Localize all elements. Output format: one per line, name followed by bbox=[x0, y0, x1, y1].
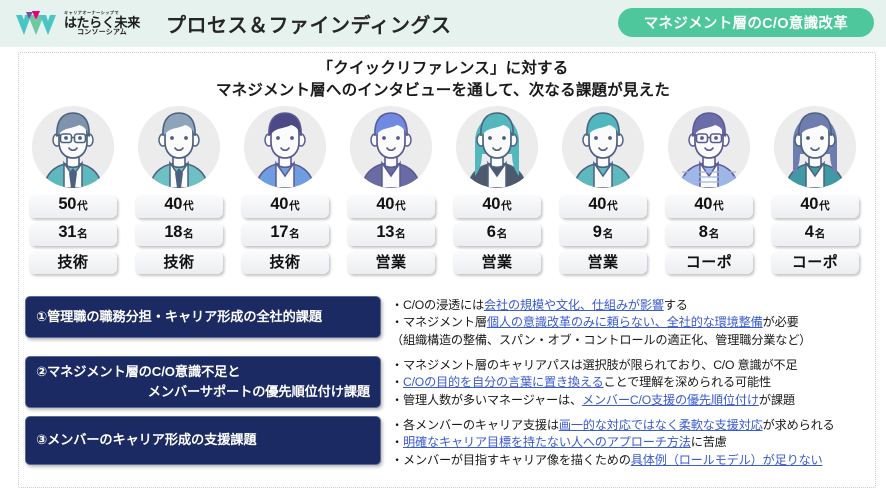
finding-title-box[interactable]: ③メンバーのキャリア形成の支援課題 bbox=[25, 416, 381, 465]
finding-body: ・C/Oの浸透には会社の規模や文化、仕組みが影響する・マネジメント層個人の意識改… bbox=[391, 296, 811, 349]
persona-dept-value: 技術 bbox=[163, 251, 194, 272]
persona-count-pill: 6名 bbox=[453, 223, 541, 246]
plain-text: ・マネジメント層のキャリアパスは選択肢が限られており、C/O 意識が不足 bbox=[391, 358, 797, 372]
plain-text: が求められる bbox=[763, 418, 835, 432]
consortium-logo: キャリアオーナーシップで はたらく未来 コンソーシアム bbox=[14, 9, 140, 39]
finding-row: ①管理職の職務分担・キャリア形成の全社的課題・C/Oの浸透には会社の規模や文化、… bbox=[25, 296, 873, 349]
persona-dept-pill: 営業 bbox=[347, 251, 435, 274]
persona-count-unit: 名 bbox=[183, 226, 194, 241]
plain-text: ・ bbox=[391, 435, 403, 449]
avatar-woman-short-hair bbox=[562, 106, 644, 188]
findings-list: ①管理職の職務分担・キャリア形成の全社的課題・C/Oの浸透には会社の規模や文化、… bbox=[25, 296, 873, 476]
plain-text: ・各メンバーのキャリア支援は bbox=[391, 418, 559, 432]
finding-body: ・各メンバーのキャリア支援は画一的な対応ではなく柔軟な支援対応が求められる・明確… bbox=[391, 416, 835, 469]
persona-age-value: 40 bbox=[694, 195, 712, 214]
plain-text: ・マネジメント層 bbox=[391, 315, 487, 329]
persona-card: 40代 17名 技術 bbox=[236, 106, 334, 288]
plain-text: （組織構造の整備、スパン・オブ・コントロールの適正化、管理職分業など） bbox=[391, 333, 811, 347]
persona-age-unit: 代 bbox=[713, 198, 724, 213]
persona-count-value: 9 bbox=[593, 223, 602, 242]
highlight-text: C/Oの目的を自分の言葉に置き換える bbox=[403, 375, 604, 389]
highlight-text: 画一的な対応ではなく柔軟な支援対応 bbox=[559, 418, 763, 432]
avatar bbox=[562, 106, 644, 188]
persona-count-unit: 名 bbox=[289, 226, 300, 241]
persona-age-value: 40 bbox=[270, 195, 288, 214]
highlight-text: 個人の意識改革のみに頼らない、全社的な環境整備 bbox=[487, 315, 763, 329]
highlight-text: 明確なキャリア目標を持たない人へのアプローチ方法 bbox=[403, 435, 691, 449]
avatar-woman-long-hair bbox=[774, 106, 856, 188]
highlight-text: 具体例（ロールモデル）が足りない bbox=[631, 453, 823, 467]
finding-row: ③メンバーのキャリア形成の支援課題・各メンバーのキャリア支援は画一的な対応ではな… bbox=[25, 416, 873, 469]
persona-count-value: 8 bbox=[699, 223, 708, 242]
persona-age-pill: 40代 bbox=[135, 195, 223, 218]
plain-text: に苦慮 bbox=[691, 435, 727, 449]
persona-age-unit: 代 bbox=[183, 198, 194, 213]
highlight-text: メンバーC/O支援の優先順位付け bbox=[582, 393, 759, 407]
persona-dept-value: コーポ bbox=[686, 251, 733, 272]
persona-card: 40代 18名 技術 bbox=[130, 106, 228, 288]
slide-root: キャリアオーナーシップで はたらく未来 コンソーシアム プロセス＆ファインディン… bbox=[0, 0, 886, 493]
persona-count-unit: 名 bbox=[497, 226, 508, 241]
finding-bullet: ・管理人数が多いマネージャーは、メンバーC/O支援の優先順位付けが課題 bbox=[391, 392, 797, 409]
persona-age-unit: 代 bbox=[77, 198, 88, 213]
finding-bullet: ・C/Oの浸透には会社の規模や文化、仕組みが影響する bbox=[391, 297, 811, 314]
persona-age-pill: 40代 bbox=[559, 195, 647, 218]
finding-title-line: メンバーサポートの優先順位付け課題 bbox=[36, 382, 370, 402]
finding-bullet: ・マネジメント層個人の意識改革のみに頼らない、全社的な環境整備が必要 bbox=[391, 314, 811, 331]
slide-header: キャリアオーナーシップで はたらく未来 コンソーシアム プロセス＆ファインディン… bbox=[0, 0, 886, 47]
persona-card: 40代 9名 営業 bbox=[554, 106, 652, 288]
persona-age-pill: 40代 bbox=[453, 195, 541, 218]
persona-dept-value: コーポ bbox=[792, 251, 839, 272]
avatar bbox=[138, 106, 220, 188]
persona-card: 40代 13名 営業 bbox=[342, 106, 440, 288]
finding-bullet: （組織構造の整備、スパン・オブ・コントロールの適正化、管理職分業など） bbox=[391, 332, 811, 349]
persona-age-pill: 40代 bbox=[241, 195, 329, 218]
persona-dept-pill: 技術 bbox=[241, 251, 329, 274]
page-title: プロセス＆ファインディングス bbox=[166, 9, 452, 38]
persona-count-value: 31 bbox=[58, 223, 76, 242]
persona-dept-value: 技術 bbox=[57, 251, 88, 272]
persona-dept-value: 営業 bbox=[587, 251, 618, 272]
status-badge: マネジメント層のC/O意識改革 bbox=[618, 8, 874, 37]
finding-bullet: ・各メンバーのキャリア支援は画一的な対応ではなく柔軟な支援対応が求められる bbox=[391, 417, 835, 434]
logo-name: はたらく未来 bbox=[64, 16, 140, 29]
persona-count-value: 13 bbox=[376, 223, 394, 242]
persona-age-pill: 40代 bbox=[665, 195, 753, 218]
persona-age-value: 40 bbox=[482, 195, 500, 214]
persona-dept-value: 営業 bbox=[375, 251, 406, 272]
avatar-man-blue-hair bbox=[350, 106, 432, 188]
finding-bullet: ・メンバーが目指すキャリア像を描くための具体例（ロールモデル）が足りない bbox=[391, 452, 835, 469]
avatar bbox=[774, 106, 856, 188]
persona-dept-value: 営業 bbox=[481, 251, 512, 272]
plain-text: が必要 bbox=[763, 315, 799, 329]
persona-age-pill: 40代 bbox=[771, 195, 859, 218]
persona-age-value: 40 bbox=[800, 195, 818, 214]
persona-dept-pill: コーポ bbox=[771, 251, 859, 274]
finding-row: ②マネジメント層のC/O意識不足とメンバーサポートの優先順位付け課題・マネジメン… bbox=[25, 356, 873, 409]
persona-age-unit: 代 bbox=[289, 198, 300, 213]
persona-count-value: 4 bbox=[805, 223, 814, 242]
plain-text: する bbox=[664, 298, 688, 312]
avatar bbox=[668, 106, 750, 188]
avatar-man-dark-hair bbox=[244, 106, 326, 188]
persona-count-pill: 31名 bbox=[29, 223, 117, 246]
plain-text: ・管理人数が多いマネージャーは、 bbox=[391, 393, 582, 407]
persona-count-pill: 13名 bbox=[347, 223, 435, 246]
w-logo-icon bbox=[14, 9, 60, 39]
persona-count-value: 18 bbox=[164, 223, 182, 242]
persona-age-unit: 代 bbox=[819, 198, 830, 213]
persona-count-unit: 名 bbox=[395, 226, 406, 241]
avatar bbox=[244, 106, 326, 188]
subtitle: 「クイックリファレンス」に対する マネジメント層へのインタビューを通して、次なる… bbox=[0, 58, 886, 103]
highlight-text: 会社の規模や文化、仕組みが影響 bbox=[484, 298, 664, 312]
persona-age-unit: 代 bbox=[501, 198, 512, 213]
finding-title-line: ②マネジメント層のC/O意識不足と bbox=[36, 364, 240, 379]
persona-age-pill: 40代 bbox=[347, 195, 435, 218]
persona-age-value: 40 bbox=[376, 195, 394, 214]
persona-age-value: 50 bbox=[58, 195, 76, 214]
finding-bullet: ・明確なキャリア目標を持たない人へのアプローチ方法に苦慮 bbox=[391, 434, 835, 451]
avatar bbox=[32, 106, 114, 188]
persona-count-unit: 名 bbox=[709, 226, 720, 241]
persona-count-unit: 名 bbox=[603, 226, 614, 241]
persona-age-unit: 代 bbox=[607, 198, 618, 213]
persona-dept-pill: コーポ bbox=[665, 251, 753, 274]
finding-title-box[interactable]: ①管理職の職務分担・キャリア形成の全社的課題 bbox=[25, 296, 381, 338]
persona-row: 50代 31名 技術 bbox=[24, 106, 864, 288]
persona-dept-pill: 技術 bbox=[29, 251, 117, 274]
persona-card: 40代 4名 コーポ bbox=[766, 106, 864, 288]
persona-count-value: 17 bbox=[270, 223, 288, 242]
avatar-woman-bob bbox=[456, 106, 538, 188]
persona-age-unit: 代 bbox=[395, 198, 406, 213]
persona-count-pill: 9名 bbox=[559, 223, 647, 246]
persona-count-pill: 4名 bbox=[771, 223, 859, 246]
logo-subname: コンソーシアム bbox=[64, 29, 140, 36]
avatar bbox=[350, 106, 432, 188]
persona-dept-pill: 営業 bbox=[453, 251, 541, 274]
plain-text: が課題 bbox=[759, 393, 795, 407]
persona-count-unit: 名 bbox=[77, 226, 88, 241]
avatar-man-suit bbox=[138, 106, 220, 188]
persona-age-value: 40 bbox=[164, 195, 182, 214]
avatar-senior-man-glasses bbox=[32, 106, 114, 188]
finding-bullet: ・マネジメント層のキャリアパスは選択肢が限られており、C/O 意識が不足 bbox=[391, 357, 797, 374]
avatar bbox=[456, 106, 538, 188]
plain-text: ・メンバーが目指すキャリア像を描くための bbox=[391, 453, 631, 467]
persona-dept-value: 技術 bbox=[269, 251, 300, 272]
avatar-man-glasses-stripe bbox=[668, 106, 750, 188]
persona-count-pill: 8名 bbox=[665, 223, 753, 246]
plain-text: ・ bbox=[391, 375, 403, 389]
persona-count-unit: 名 bbox=[815, 226, 826, 241]
persona-age-value: 40 bbox=[588, 195, 606, 214]
subtitle-line-2: マネジメント層へのインタビューを通して、次なる課題が見えた bbox=[0, 80, 886, 102]
subtitle-line-1: 「クイックリファレンス」に対する bbox=[0, 58, 886, 80]
persona-count-pill: 18名 bbox=[135, 223, 223, 246]
plain-text: ことで理解を深められる可能性 bbox=[604, 375, 771, 389]
plain-text: ・C/Oの浸透には bbox=[391, 298, 484, 312]
persona-card: 40代 8名 コーポ bbox=[660, 106, 758, 288]
persona-card: 50代 31名 技術 bbox=[24, 106, 122, 288]
persona-count-value: 6 bbox=[487, 223, 496, 242]
finding-body: ・マネジメント層のキャリアパスは選択肢が限られており、C/O 意識が不足・C/O… bbox=[391, 356, 797, 409]
persona-card: 40代 6名 営業 bbox=[448, 106, 546, 288]
finding-title-line: ①管理職の職務分担・キャリア形成の全社的課題 bbox=[36, 309, 322, 324]
finding-title-box[interactable]: ②マネジメント層のC/O意識不足とメンバーサポートの優先順位付け課題 bbox=[25, 356, 381, 408]
persona-dept-pill: 技術 bbox=[135, 251, 223, 274]
persona-age-pill: 50代 bbox=[29, 195, 117, 218]
persona-count-pill: 17名 bbox=[241, 223, 329, 246]
finding-bullet: ・C/Oの目的を自分の言葉に置き換えることで理解を深められる可能性 bbox=[391, 374, 797, 391]
persona-dept-pill: 営業 bbox=[559, 251, 647, 274]
finding-title-line: ③メンバーのキャリア形成の支援課題 bbox=[36, 432, 256, 447]
